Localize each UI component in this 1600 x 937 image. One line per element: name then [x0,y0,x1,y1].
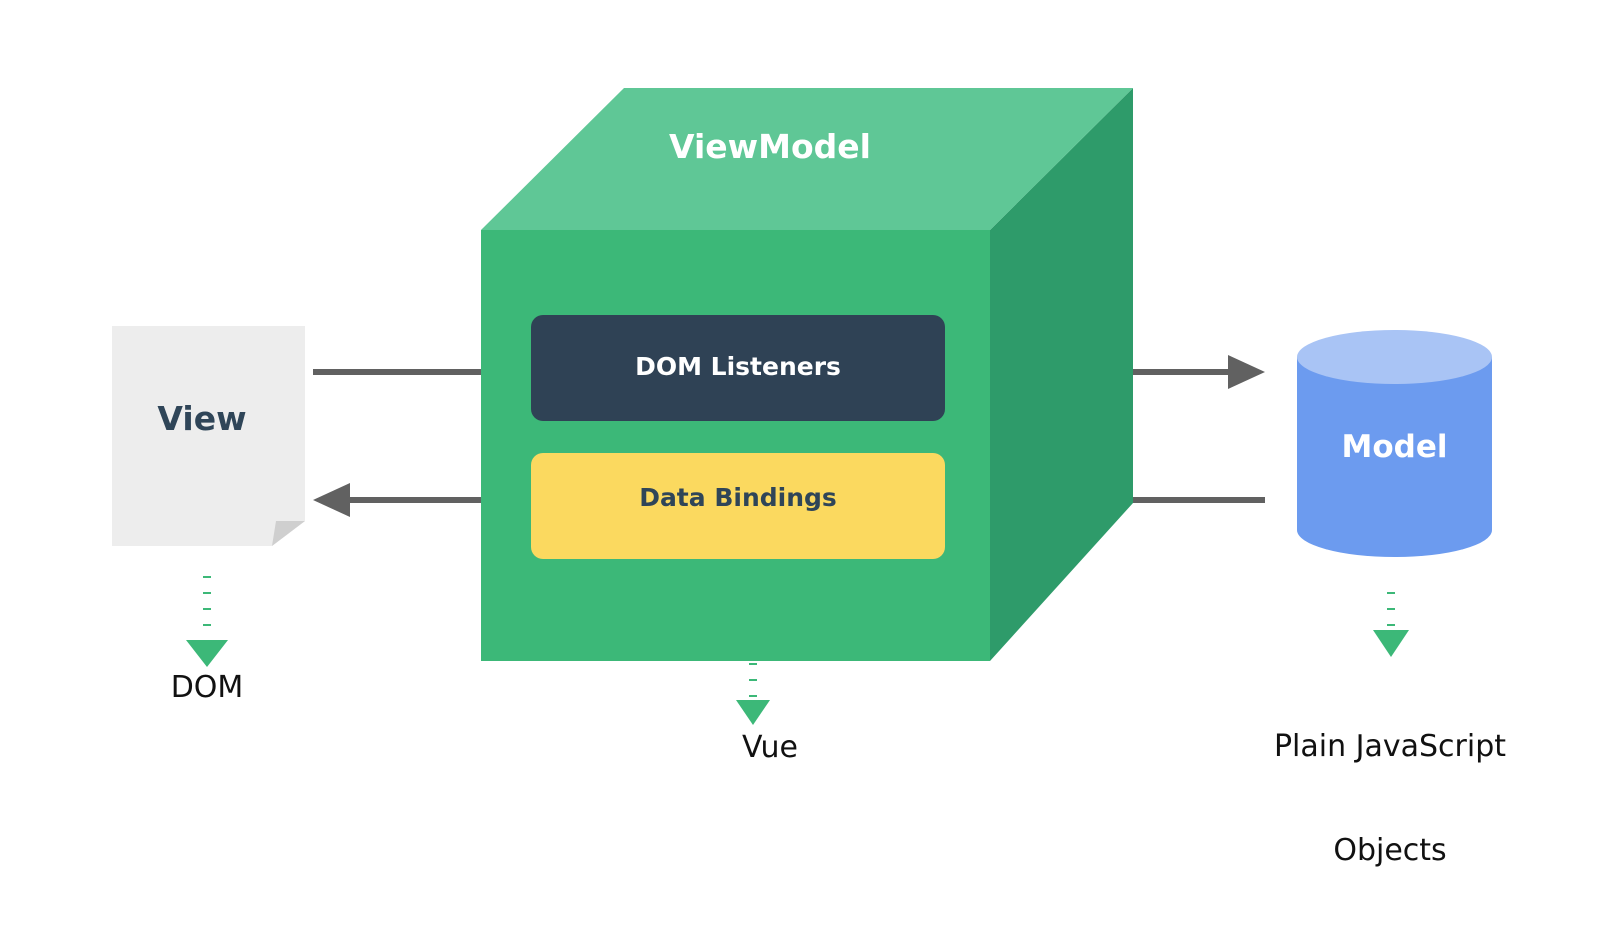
viewmodel-label: ViewModel [575,128,965,166]
dotted-arrow-view-to-dom [186,576,228,667]
caption-dom: DOM [107,671,307,706]
caption-vue: Vue [670,731,870,766]
dom-listeners-label: DOM Listeners [531,353,945,382]
model-cylinder-top [1297,330,1492,384]
diagram-canvas: View ViewModel Model DOM Listeners Data … [0,0,1600,850]
caption-plain-javascript-line2: Objects [1215,834,1565,869]
dotted-arrowhead-dom [186,640,228,667]
caption-plain-javascript-line1: Plain JavaScript [1215,730,1565,765]
dotted-arrow-viewmodel-to-vue [736,663,770,725]
data-bindings-label: Data Bindings [531,484,945,513]
dotted-arrowhead-vue [736,700,770,725]
arrowhead-to-model [1228,355,1265,389]
view-label: View [112,400,292,438]
dotted-arrow-model-to-plainjs [1373,592,1409,657]
arrowhead-to-view [313,483,350,517]
dotted-arrowhead-plainjs [1373,630,1409,657]
model-label: Model [1297,430,1492,466]
caption-plain-javascript-objects: Plain JavaScript Objects [1215,661,1565,937]
view-document-fold [272,521,305,546]
cube-front-face [481,230,990,661]
